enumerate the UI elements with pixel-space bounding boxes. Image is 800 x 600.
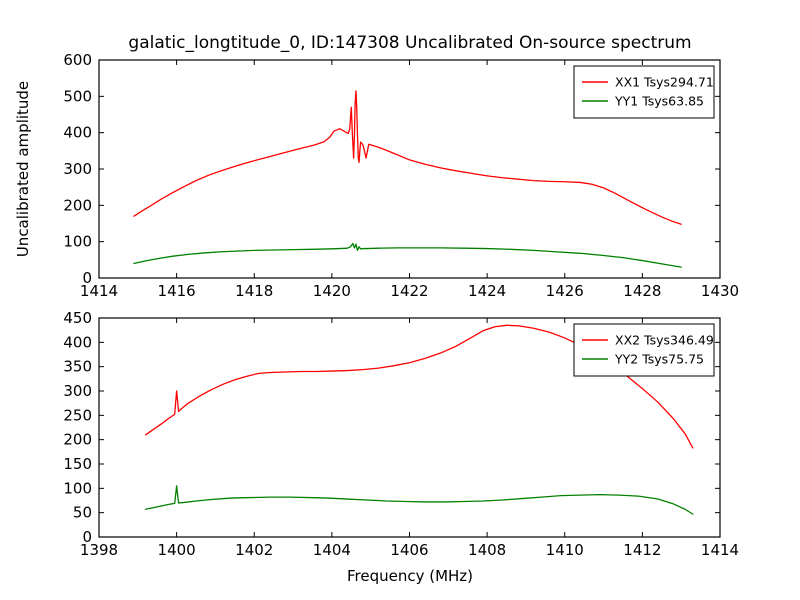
x-axis-label-bottom: Frequency (MHz) [347,567,473,585]
y-tick-label: 500 [63,87,92,105]
x-tick-label: 1430 [701,282,739,300]
x-tick-label: 1408 [468,541,506,559]
y-tick-label: 100 [63,233,92,251]
x-tick-label: 1424 [468,282,506,300]
y-tick-label: 150 [63,455,92,473]
figure-title: galatic_longtitude_0, ID:147308 Uncalibr… [128,33,691,53]
y-tick-label: 0 [82,528,92,546]
y-tick-label: 450 [63,309,92,327]
plot-canvas: galatic_longtitude_0, ID:147308 Uncalibr… [0,0,800,600]
y-tick-label: 200 [63,196,92,214]
x-tick-label: 1418 [235,282,273,300]
y-tick-label: 200 [63,431,92,449]
y-tick-label: 250 [63,406,92,424]
legend-top: XX1 Tsys294.71YY1 Tsys63.85 [574,66,714,118]
x-tick-label: 1426 [546,282,584,300]
x-tick-label: 1428 [623,282,661,300]
x-tick-label: 1422 [390,282,428,300]
spectrum-figure: galatic_longtitude_0, ID:147308 Uncalibr… [0,0,800,600]
x-tick-label: 1406 [390,541,428,559]
legend-label: YY2 Tsys75.75 [614,352,704,367]
legend-label: XX1 Tsys294.71 [615,75,714,90]
y-tick-label: 400 [63,333,92,351]
legend-label: XX2 Tsys346.49 [615,333,714,348]
y-tick-label: 350 [63,358,92,376]
y-tick-label: 400 [63,124,92,142]
y-axis-label-top: Uncalibrated amplitude [14,81,32,257]
x-tick-label: 1420 [313,282,351,300]
legend-bottom: XX2 Tsys346.49YY2 Tsys75.75 [574,324,714,376]
y-tick-label: 100 [63,479,92,497]
legend-label: YY1 Tsys63.85 [614,94,704,109]
x-tick-label: 1404 [313,541,351,559]
y-tick-label: 50 [73,504,92,522]
x-tick-label: 1412 [623,541,661,559]
y-tick-label: 300 [63,160,92,178]
x-tick-label: 1400 [158,541,196,559]
x-tick-label: 1416 [158,282,196,300]
x-tick-label: 1402 [235,541,273,559]
y-tick-label: 300 [63,382,92,400]
x-tick-label: 1410 [546,541,584,559]
y-tick-label: 600 [63,51,92,69]
x-tick-label: 1414 [701,541,739,559]
y-tick-label: 0 [82,269,92,287]
